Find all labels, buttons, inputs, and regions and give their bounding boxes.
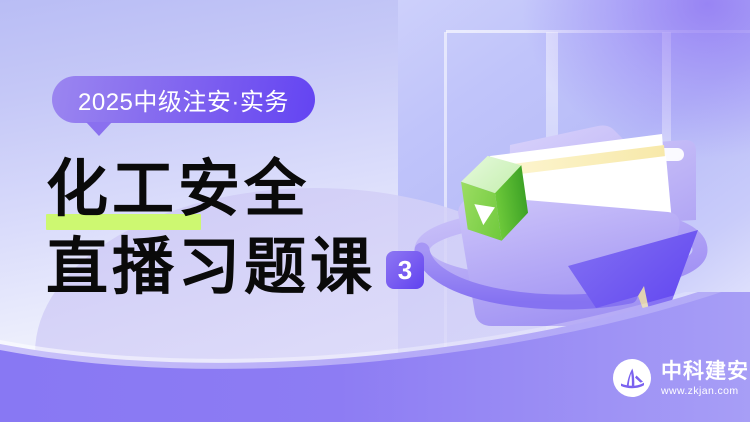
brand-website: www.zkjan.com [661, 385, 749, 397]
bottom-wave-band [0, 292, 750, 422]
brand-logo: 中科建安 www.zkjan.com [612, 358, 749, 398]
course-tag-label: 2025中级注安·实务 [78, 82, 289, 117]
headline-line-2: 直播习题课 [46, 230, 376, 304]
course-tag-tail [86, 122, 112, 136]
headline-line-1-wrap: 化工安全 [46, 152, 310, 226]
course-banner: 2025中级注安·实务 化工安全 直播习题课 3 中科建安 www.zkjan.… [0, 0, 750, 422]
episode-number-badge: 3 [386, 251, 424, 289]
headline-line-1: 化工安全 [46, 152, 310, 226]
course-tag: 2025中级注安·实务 [52, 76, 315, 123]
brand-mark-icon [612, 358, 652, 398]
brand-name: 中科建安 [661, 360, 749, 383]
brand-text: 中科建安 www.zkjan.com [661, 360, 749, 397]
pane-top-edge [446, 30, 750, 33]
course-tag-pill: 2025中级注安·实务 [52, 76, 315, 123]
headline-line-2-row: 直播习题课 3 [46, 230, 476, 304]
headline: 化工安全 直播习题课 3 [46, 152, 476, 304]
